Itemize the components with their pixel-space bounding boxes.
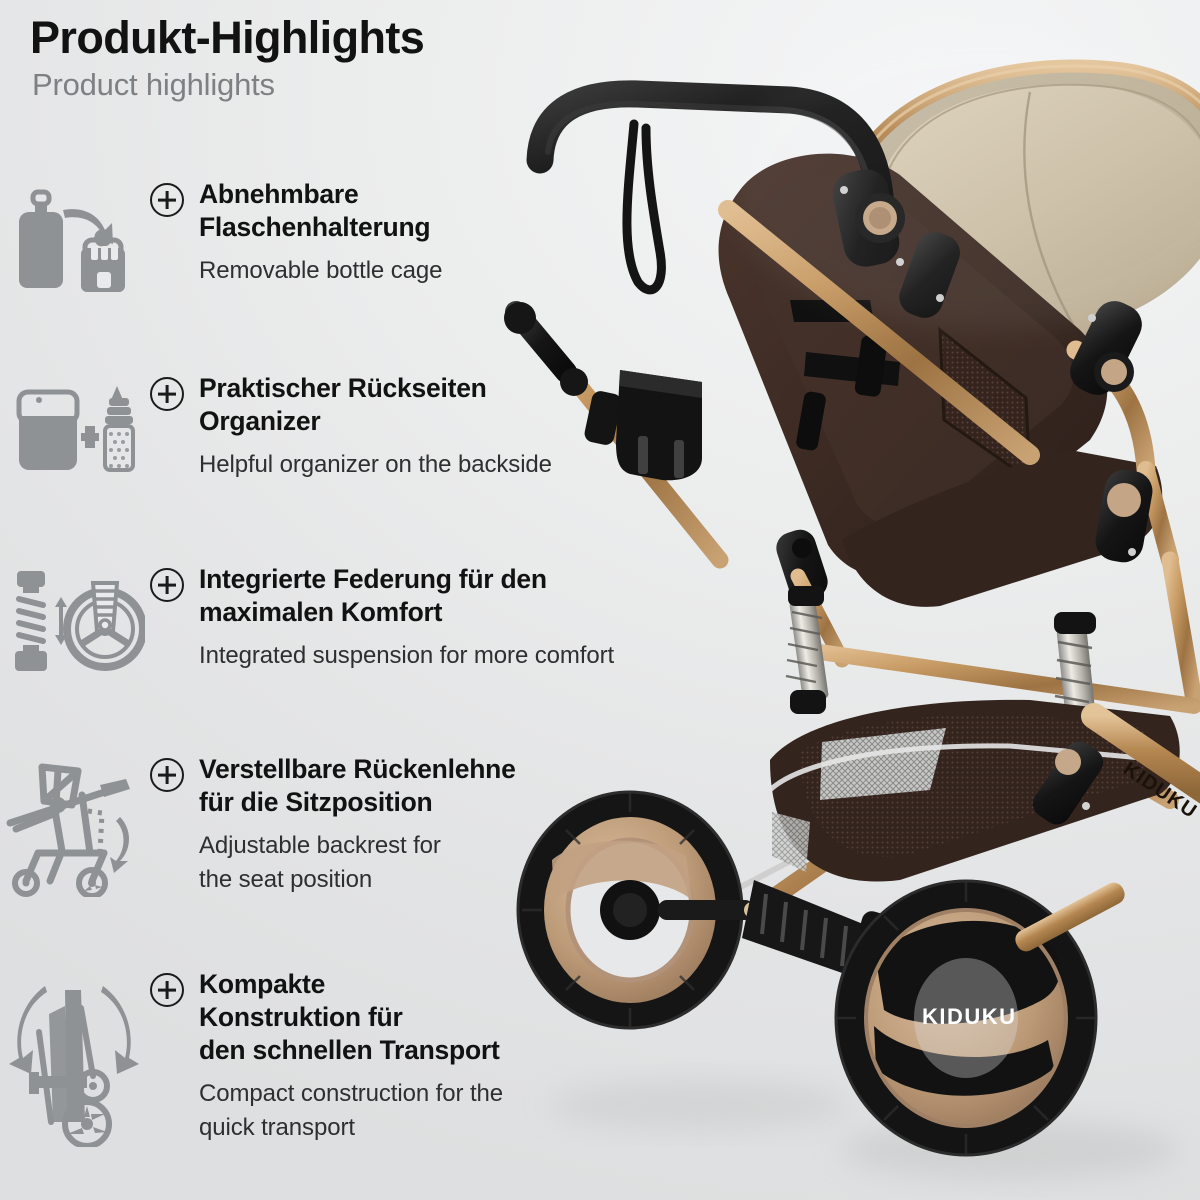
feature-subtitle: Removable bottle cage bbox=[199, 254, 442, 288]
feature-title-line-1: Integrierte Federung für den bbox=[199, 564, 547, 594]
feature-item-bottle-cage: Abnehmbare Flaschenhalterung Removable b… bbox=[0, 178, 442, 296]
feature-subtitle-line-2: the seat position bbox=[199, 866, 372, 893]
plus-icon bbox=[150, 758, 184, 792]
feature-title-line-2: Flaschenhalterung bbox=[199, 212, 430, 242]
feature-subtitle: Helpful organizer on the backside bbox=[199, 448, 552, 482]
feature-body: Verstellbare Rückenlehne für die Sitzpos… bbox=[150, 753, 516, 897]
feature-icon-wrap bbox=[0, 968, 150, 1147]
feature-body: Kompakte Konstruktion für den schnellen … bbox=[150, 968, 503, 1145]
plus-icon bbox=[150, 377, 184, 411]
page-title: Produkt-Highlights bbox=[30, 14, 424, 61]
feature-subtitle: Adjustable backrest for the seat positio… bbox=[199, 829, 516, 897]
folded-stroller-icon bbox=[5, 972, 145, 1147]
feature-title-line-1: Verstellbare Rückenlehne bbox=[199, 754, 516, 784]
feature-title-line-2: Organizer bbox=[199, 406, 320, 436]
feature-text: Kompakte Konstruktion für den schnellen … bbox=[199, 968, 503, 1145]
header: Produkt-Highlights Product highlights bbox=[30, 14, 424, 102]
feature-title-line-2: maximalen Komfort bbox=[199, 597, 442, 627]
feature-title-line-1: Kompakte bbox=[199, 969, 325, 999]
front-wheel bbox=[518, 792, 760, 1028]
feature-title-line-2: für die Sitzposition bbox=[199, 787, 433, 817]
ground-shadow bbox=[550, 1079, 850, 1131]
pocket-plus-bottle-icon bbox=[9, 376, 141, 486]
plus-icon bbox=[150, 568, 184, 602]
feature-body: Integrierte Federung für den maximalen K… bbox=[150, 563, 614, 673]
feature-title-line-1: Praktischer Rückseiten bbox=[199, 373, 487, 403]
feature-text: Abnehmbare Flaschenhalterung Removable b… bbox=[199, 178, 442, 288]
feature-item-organizer: Praktischer Rückseiten Organizer Helpful… bbox=[0, 372, 552, 486]
feature-text: Praktischer Rückseiten Organizer Helpful… bbox=[199, 372, 552, 482]
spring-suspension-wheel-icon bbox=[5, 567, 145, 675]
storage-basket: KIDUKU bbox=[770, 700, 1200, 882]
plus-icon bbox=[150, 183, 184, 217]
plus-icon bbox=[150, 973, 184, 1007]
feature-subtitle-line-1: Compact construction for the bbox=[199, 1080, 503, 1107]
wheel-brand-logo: KIDUKU bbox=[922, 1004, 1017, 1029]
feature-item-suspension: Integrierte Federung für den maximalen K… bbox=[0, 563, 614, 675]
feature-body: Abnehmbare Flaschenhalterung Removable b… bbox=[150, 178, 442, 288]
cup-holder-icon bbox=[616, 370, 702, 480]
feature-subtitle-line-1: Adjustable backrest for bbox=[199, 832, 441, 859]
feature-subtitle-line-2: quick transport bbox=[199, 1114, 355, 1141]
feature-icon-wrap bbox=[0, 178, 150, 296]
feature-text: Integrierte Federung für den maximalen K… bbox=[199, 563, 614, 673]
page-subtitle: Product highlights bbox=[32, 69, 424, 102]
infographic-page: Produkt-Highlights Product highlights bbox=[0, 0, 1200, 1200]
rear-wheel: KIDUKU bbox=[836, 879, 1128, 1155]
bottle-to-cage-icon bbox=[11, 182, 139, 296]
feature-item-backrest: Verstellbare Rückenlehne für die Sitzpos… bbox=[0, 753, 516, 897]
feature-subtitle: Integrated suspension for more comfort bbox=[199, 639, 614, 673]
feature-body: Praktischer Rückseiten Organizer Helpful… bbox=[150, 372, 552, 482]
feature-text: Verstellbare Rückenlehne für die Sitzpos… bbox=[199, 753, 516, 897]
feature-subtitle: Compact construction for the quick trans… bbox=[199, 1077, 503, 1145]
feature-title-line-3: den schnellen Transport bbox=[199, 1035, 500, 1065]
feature-title-line-2: Konstruktion für bbox=[199, 1002, 403, 1032]
feature-icon-wrap bbox=[0, 372, 150, 486]
reclining-backrest-stroller-icon bbox=[0, 757, 150, 897]
feature-title-line-1: Abnehmbare bbox=[199, 179, 358, 209]
feature-item-compact: Kompakte Konstruktion für den schnellen … bbox=[0, 968, 503, 1147]
feature-icon-wrap bbox=[0, 753, 150, 897]
feature-icon-wrap bbox=[0, 563, 150, 675]
